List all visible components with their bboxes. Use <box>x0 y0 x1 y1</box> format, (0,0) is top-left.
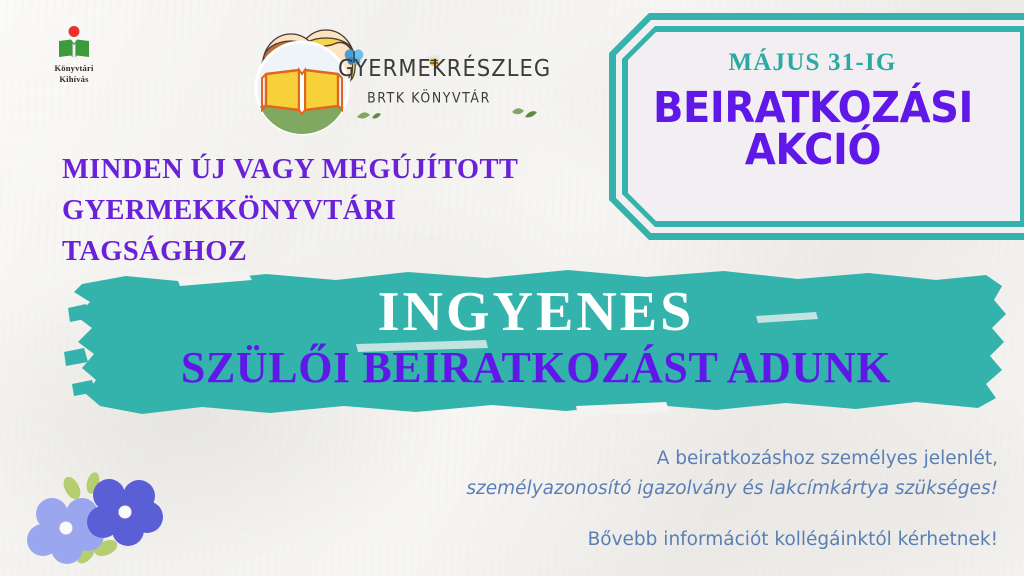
offer-free-word: INGYENES <box>378 284 695 341</box>
requirements-note: A beiratkozáshoz személyes jelenlét, sze… <box>338 444 998 504</box>
kk-line-2: Kihívás <box>38 74 110 85</box>
offer-banner-text: INGYENES SZÜLŐI BEIRATKOZÁST ADUNK <box>56 256 1016 424</box>
requirements-note-line-1: A beiratkozáshoz személyes jelenlét, <box>657 448 998 469</box>
open-book-circle-emblem-icon <box>254 40 350 136</box>
more-info-note: Bővebb információt kollégáinktól kérhetn… <box>338 526 998 554</box>
konyvtari-kihivas-label: Könyvtári Kihívás <box>38 63 110 85</box>
brand-subwordmark: BRTK KÖNYVTÁR <box>344 89 514 106</box>
offer-banner: INGYENES SZÜLŐI BEIRATKOZÁST ADUNK <box>56 256 1016 424</box>
requirements-note-line-2: személyazonosító igazolvány és lakcímkár… <box>466 478 998 499</box>
poster-canvas: Könyvtári Kihívás <box>0 0 1024 576</box>
flowers-icon <box>16 452 196 572</box>
badge-deadline: MÁJUS 31-IG <box>728 49 896 77</box>
badge-headline-line-2: AKCIÓ <box>653 130 973 172</box>
konyvtari-kihivas-logo: Könyvtári Kihívás <box>38 26 110 85</box>
leaf-icon <box>356 108 382 120</box>
kicker-line-1: MINDEN ÚJ VAGY MEGÚJÍTOTT <box>62 150 582 191</box>
offer-description: SZÜLŐI BEIRATKOZÁST ADUNK <box>181 345 891 391</box>
badge-content: MÁJUS 31-IG BEIRATKOZÁSI AKCIÓ <box>628 32 1024 221</box>
footnotes: A beiratkozáshoz személyes jelenlét, sze… <box>338 444 998 554</box>
badge-headline: BEIRATKOZÁSI AKCIÓ <box>653 88 973 171</box>
badge-headline-line-1: BEIRATKOZÁSI <box>653 88 973 130</box>
red-dot-icon <box>69 26 80 37</box>
konyvtari-kihivas-mark <box>38 26 110 60</box>
kk-line-1: Könyvtári <box>38 63 110 74</box>
gyermekreszleg-brand-lockup: GYERMEKRÉSZLEG BRTK KÖNYVTÁR <box>248 8 598 133</box>
promo-badge: MÁJUS 31-IG BEIRATKOZÁSI AKCIÓ <box>609 13 1024 240</box>
brand-wordmark: GYERMEKRÉSZLEG <box>338 55 518 82</box>
kicker-text: MINDEN ÚJ VAGY MEGÚJÍTOTT GYERMEKKÖNYVTÁ… <box>62 150 582 272</box>
open-book-icon <box>59 38 89 59</box>
leaf-icon <box>510 106 540 120</box>
